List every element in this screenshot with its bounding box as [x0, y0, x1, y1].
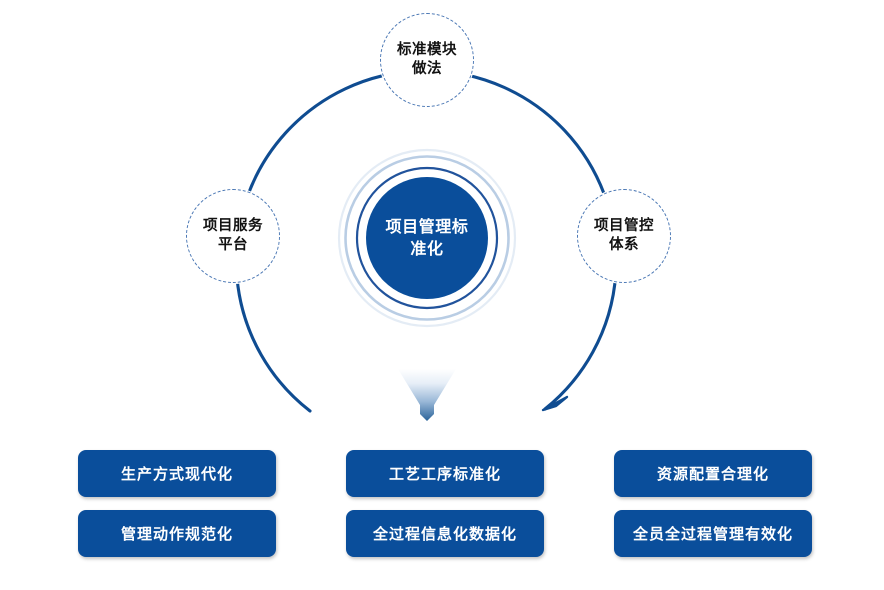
outcome-box[interactable]: 全过程信息化数据化	[346, 510, 544, 557]
node-left-service-platform[interactable]: 项目服务平台	[186, 189, 280, 283]
outcome-box[interactable]: 资源配置合理化	[614, 450, 812, 497]
outcome-box[interactable]: 管理动作规范化	[78, 510, 276, 557]
outcome-box[interactable]: 全员全过程管理有效化	[614, 510, 812, 557]
node-top-label: 标准模块做法	[391, 41, 463, 79]
node-right-label: 项目管控体系	[588, 217, 660, 255]
outcome-box[interactable]: 工艺工序标准化	[346, 450, 544, 497]
outcome-box-grid: 生产方式现代化 工艺工序标准化 资源配置合理化 管理动作规范化 全过程信息化数据…	[78, 450, 808, 557]
node-top-standard-module[interactable]: 标准模块做法	[380, 13, 474, 107]
outcome-box[interactable]: 生产方式现代化	[78, 450, 276, 497]
down-arrow-shape	[398, 369, 456, 421]
node-right-control-system[interactable]: 项目管控体系	[577, 189, 671, 283]
center-hub-disc: 项目管理标准化	[366, 177, 488, 299]
diagram-canvas: 标准模块做法 项目服务平台 项目管控体系 项目管理标准化 生产方式现代化 工艺工…	[0, 0, 884, 590]
center-hub-label: 项目管理标准化	[382, 216, 472, 259]
node-left-label: 项目服务平台	[197, 217, 269, 255]
center-hub[interactable]: 项目管理标准化	[337, 148, 517, 328]
